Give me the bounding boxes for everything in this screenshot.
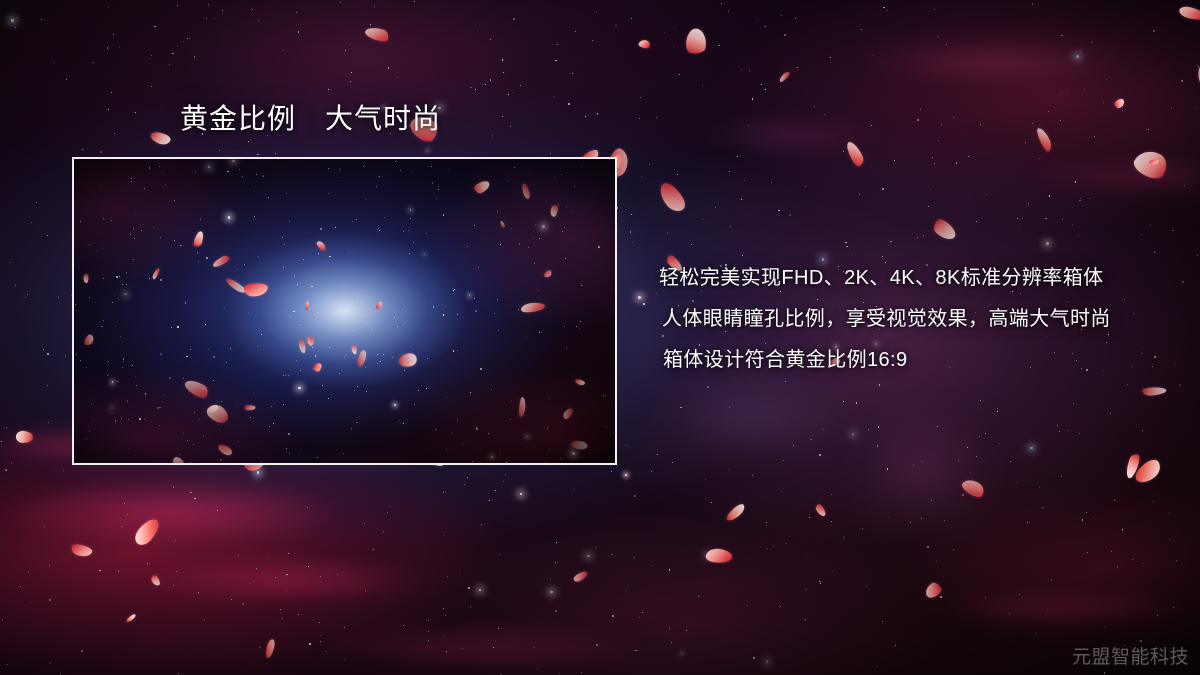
framed-nebula-photo xyxy=(72,157,617,465)
frame-vignette xyxy=(74,159,615,463)
page-title: 黄金比例 大气时尚 xyxy=(180,102,441,136)
body-text-block: 轻松完美实现FHD、2K、4K、8K标准分辨率箱体 人体眼睛瞳孔比例，享受视觉效… xyxy=(659,258,1139,381)
body-line-2: 人体眼睛瞳孔比例，享受视觉效果，高端大气时尚 xyxy=(659,299,1139,340)
body-line-3: 箱体设计符合黄金比例16:9 xyxy=(659,340,1139,381)
watermark-brand: 元盟智能科技 xyxy=(1072,648,1189,667)
presentation-slide: 黄金比例 大气时尚 轻松完美实现FHD、2K、4K、8K标准分辨率箱体 人体眼睛… xyxy=(0,0,1200,675)
body-line-1: 轻松完美实现FHD、2K、4K、8K标准分辨率箱体 xyxy=(659,258,1139,299)
frame-photo-content xyxy=(74,159,615,463)
